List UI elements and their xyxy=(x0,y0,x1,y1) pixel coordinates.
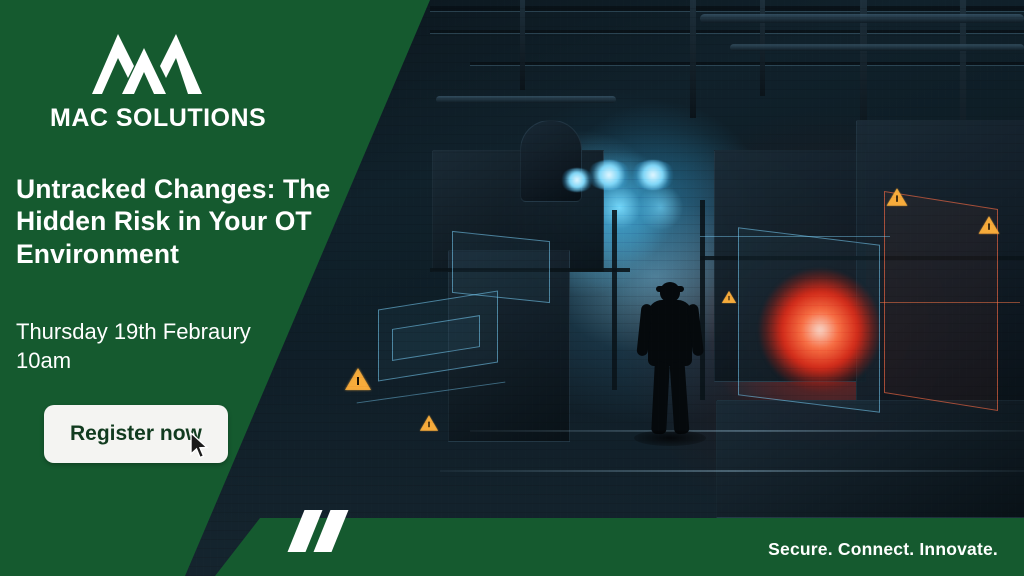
ar-wireframe-panel xyxy=(738,227,880,412)
floor-line xyxy=(440,470,1024,472)
warning-triangle-icon xyxy=(420,415,438,430)
storage-tank xyxy=(520,120,582,202)
plant-machinery xyxy=(856,120,1024,422)
footer-tagline: Secure. Connect. Innovate. xyxy=(768,539,998,560)
ceiling-lamp xyxy=(630,160,676,190)
brand-name: MAC SOLUTIONS xyxy=(50,104,366,133)
warning-triangle-icon xyxy=(979,216,1000,234)
webinar-headline: Untracked Changes: The Hidden Risk in Yo… xyxy=(16,173,366,270)
ar-guide-line xyxy=(880,302,1020,303)
ceiling-beam xyxy=(960,0,966,210)
ceiling-truss xyxy=(470,62,1024,65)
webinar-date: Thursday 19th Febraury xyxy=(16,318,366,347)
warning-triangle-icon xyxy=(887,188,908,206)
ceiling-beam xyxy=(860,0,867,150)
webinar-promo-banner: MAC SOLUTIONS Untracked Changes: The Hid… xyxy=(0,0,1024,576)
plant-machinery xyxy=(432,150,604,272)
ceiling-lamp xyxy=(560,168,594,192)
plant-machinery xyxy=(714,150,866,382)
ar-guide-line xyxy=(357,382,506,404)
ar-wireframe-panel xyxy=(392,315,480,361)
plant-machinery xyxy=(448,250,570,442)
mac-mountain-logo xyxy=(88,24,206,96)
ceiling-beam xyxy=(520,0,525,90)
ar-wireframe-panel xyxy=(378,290,498,381)
overhead-pipe xyxy=(436,96,616,103)
ceiling-truss xyxy=(430,6,1024,11)
ar-wireframe-panel xyxy=(452,231,550,303)
ceiling-lamp xyxy=(586,160,632,190)
warning-triangle-icon xyxy=(722,291,736,303)
support-column xyxy=(612,210,617,390)
ceiling-truss xyxy=(430,30,1024,33)
ar-wireframe-alert-panel xyxy=(884,191,998,411)
overhead-pipe xyxy=(730,44,1024,51)
floor-line xyxy=(470,430,1024,432)
webinar-datetime: Thursday 19th Febraury 10am xyxy=(16,318,366,375)
ar-guide-line xyxy=(700,236,890,237)
support-column xyxy=(700,200,705,400)
ceiling-beam xyxy=(760,0,765,96)
promo-content: MAC SOLUTIONS Untracked Changes: The Hid… xyxy=(16,24,366,463)
handrail xyxy=(700,256,1024,260)
overhead-pipe xyxy=(700,14,1024,23)
hot-process-glow xyxy=(760,270,880,390)
worker-silhouette xyxy=(642,282,698,452)
handrail xyxy=(430,268,630,272)
webinar-time: 10am xyxy=(16,347,366,376)
ceiling-beam xyxy=(690,0,696,118)
conveyor-unit xyxy=(716,400,1024,518)
register-now-button[interactable]: Register now xyxy=(44,405,228,463)
